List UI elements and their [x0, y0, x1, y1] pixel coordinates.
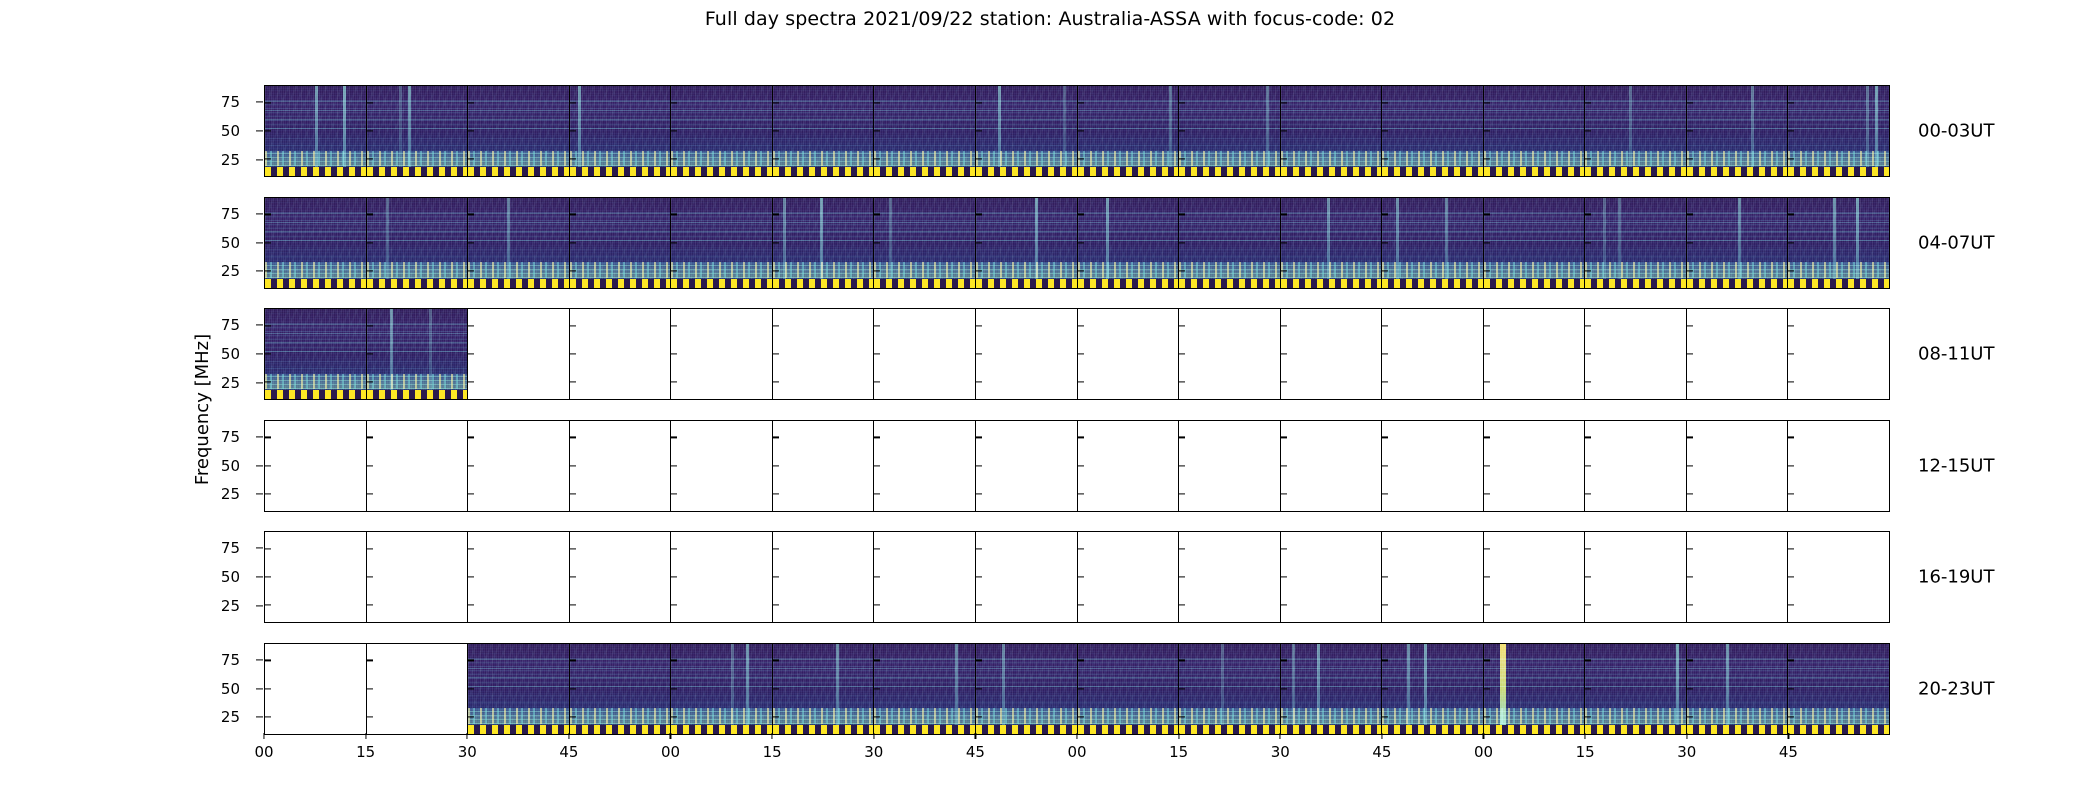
- y-tick-mark: [1382, 660, 1388, 661]
- spectrogram-layer-streaks: [468, 656, 569, 687]
- y-tick-mark: [468, 688, 474, 689]
- x-tick-label: 15: [1169, 743, 1188, 761]
- spectrogram-panel[interactable]: [1585, 309, 1687, 399]
- y-tick-mark: [1585, 242, 1591, 243]
- y-tick-mark: [1585, 493, 1591, 494]
- bottom-marker-strip: [1788, 167, 1889, 176]
- panel-strip: [265, 86, 1889, 176]
- x-tick-label: 00: [254, 743, 273, 761]
- spectrogram-panel[interactable]: [773, 532, 875, 622]
- y-tick-mark: [1382, 576, 1388, 577]
- spectrogram-panel[interactable]: [265, 421, 367, 511]
- y-tick-mark: [1484, 270, 1490, 271]
- spectrogram-panel[interactable]: [671, 644, 773, 734]
- spectrogram-layer-band: [265, 374, 366, 389]
- y-tick-mark: [1585, 353, 1591, 354]
- spectrogram-layer-streaks: [671, 210, 772, 241]
- rfi-burst: [1106, 198, 1109, 279]
- spectrogram-panel[interactable]: [1788, 532, 1889, 622]
- y-tick-mark: [1484, 382, 1490, 383]
- spectrogram-panel[interactable]: [468, 198, 570, 288]
- spectrogram-panel[interactable]: [1687, 309, 1789, 399]
- y-tick-mark: [1281, 548, 1287, 549]
- spectrogram-layer-streaks: [265, 322, 366, 353]
- spectrogram-panel[interactable]: [468, 644, 570, 734]
- spectrogram-panel[interactable]: [976, 86, 1078, 176]
- spectrogram-panel[interactable]: [1078, 198, 1180, 288]
- spectrogram-panel[interactable]: [1382, 198, 1484, 288]
- x-axis: 00153045001530450015304500153045: [264, 733, 1890, 773]
- spectrogram-panel[interactable]: [773, 421, 875, 511]
- y-tick-label: 75: [0, 651, 240, 669]
- spectrogram-panel[interactable]: [1687, 198, 1789, 288]
- spectrogram-panel[interactable]: [1281, 421, 1383, 511]
- x-tick-label: 45: [966, 743, 985, 761]
- y-tick-mark: [1788, 605, 1794, 606]
- spectrogram-panel[interactable]: [976, 532, 1078, 622]
- y-tick-mark: [1788, 493, 1794, 494]
- spectrogram-panel[interactable]: [570, 309, 672, 399]
- rfi-burst: [1875, 86, 1878, 167]
- spectrogram-panel[interactable]: [773, 309, 875, 399]
- spectrogram-panel[interactable]: [468, 86, 570, 176]
- y-tick-label: 50: [0, 345, 240, 363]
- rfi-burst: [1266, 86, 1269, 167]
- spectrogram-panel[interactable]: [367, 532, 469, 622]
- spectrogram-panel[interactable]: [1078, 86, 1180, 176]
- y-tick-mark: [367, 605, 373, 606]
- y-tick-mark: [468, 716, 474, 717]
- spectrogram-panel[interactable]: [1585, 532, 1687, 622]
- spectrogram-layer-streaks: [570, 210, 671, 241]
- spectrogram-row-12-15ut: [264, 420, 1890, 512]
- spectrogram-image: [671, 644, 772, 734]
- spectrogram-panel[interactable]: [1585, 644, 1687, 734]
- y-tick-mark: [570, 270, 576, 271]
- y-tick-mark: [773, 493, 779, 494]
- spectrogram-panel[interactable]: [1687, 644, 1789, 734]
- y-tick-mark: [1687, 688, 1693, 689]
- y-tick-mark: [1382, 159, 1388, 160]
- spectrogram-layer-streaks: [1788, 210, 1889, 241]
- y-tick-mark-outer: [256, 465, 263, 466]
- y-tick-mark: [1078, 130, 1084, 131]
- spectrogram-panel[interactable]: [265, 644, 367, 734]
- spectrogram-panel[interactable]: [265, 198, 367, 288]
- spectrogram-panel[interactable]: [1484, 421, 1586, 511]
- spectrogram-panel[interactable]: [976, 309, 1078, 399]
- spectrogram-panel[interactable]: [367, 309, 469, 399]
- x-tick: 00: [1067, 733, 1086, 761]
- spectrogram-panel[interactable]: [1078, 309, 1180, 399]
- y-axis-label: Frequency [MHz]: [190, 85, 216, 733]
- rfi-burst: [836, 644, 839, 725]
- spectrogram-panel[interactable]: [874, 198, 976, 288]
- spectrogram-layer-band: [1078, 262, 1179, 277]
- spectrogram-panel[interactable]: [1687, 86, 1789, 176]
- y-tick-mark: [1382, 382, 1388, 383]
- y-tick-mark: [671, 130, 677, 131]
- spectrogram-panel[interactable]: [1179, 86, 1281, 176]
- spectrogram-panel[interactable]: [1585, 198, 1687, 288]
- y-tick-mark: [773, 270, 779, 271]
- spectrogram-panel[interactable]: [976, 421, 1078, 511]
- spectrogram-panel[interactable]: [874, 309, 976, 399]
- spectrogram-panel[interactable]: [367, 86, 469, 176]
- y-tick-mark: [570, 382, 576, 383]
- spectrogram-layer-streaks: [1687, 99, 1788, 130]
- row-label-12-15ut: 12-15UT: [1918, 455, 1994, 476]
- spectrogram-layer-band: [1078, 708, 1179, 723]
- spectrogram-panel[interactable]: [367, 421, 469, 511]
- spectrogram-panel[interactable]: [874, 421, 976, 511]
- y-tick-mark: [1585, 660, 1591, 661]
- spectrogram-layer-band: [671, 262, 772, 277]
- y-tick-mark: [367, 130, 373, 131]
- y-tick-mark: [265, 437, 271, 438]
- bottom-marker-strip: [1484, 279, 1585, 288]
- y-tick-mark: [671, 688, 677, 689]
- spectrogram-image: [1687, 198, 1788, 288]
- row-frame: [264, 643, 1890, 735]
- spectrogram-image: [1382, 86, 1483, 176]
- y-tick-mark: [1687, 270, 1693, 271]
- y-tick-mark: [570, 576, 576, 577]
- spectrogram-layer-band: [1788, 708, 1889, 723]
- spectrogram-panel[interactable]: [1788, 644, 1889, 734]
- spectrogram-layer-streaks: [468, 99, 569, 130]
- spectrogram-panel[interactable]: [1788, 309, 1889, 399]
- bottom-marker-strip: [874, 279, 975, 288]
- spectrogram-panel[interactable]: [1382, 86, 1484, 176]
- y-tick-mark: [1382, 548, 1388, 549]
- x-tick-mark: [975, 733, 976, 739]
- spectrogram-panel[interactable]: [468, 532, 570, 622]
- row-label-00-03ut: 00-03UT: [1918, 121, 1994, 142]
- spectrogram-panel[interactable]: [265, 86, 367, 176]
- spectrogram-panel[interactable]: [1585, 421, 1687, 511]
- spectrogram-layer-streaks: [570, 656, 671, 687]
- y-tick-label: 75: [0, 539, 240, 557]
- spectrogram-panel[interactable]: [265, 532, 367, 622]
- spectrogram-panel[interactable]: [874, 86, 976, 176]
- y-tick-mark: [1078, 382, 1084, 383]
- spectrogram-panel[interactable]: [1382, 644, 1484, 734]
- spectrogram-panel[interactable]: [1484, 309, 1586, 399]
- spectrogram-image: [468, 198, 569, 288]
- spectrogram-panel[interactable]: [367, 644, 469, 734]
- spectrogram-image: [265, 309, 366, 399]
- y-tick-mark: [265, 159, 271, 160]
- y-tick-mark: [1382, 437, 1388, 438]
- spectrogram-panel[interactable]: [1585, 86, 1687, 176]
- spectrogram-panel[interactable]: [570, 86, 672, 176]
- spectrogram-panel[interactable]: [1078, 644, 1180, 734]
- spectrogram-panel[interactable]: [976, 198, 1078, 288]
- spectrogram-panel[interactable]: [1382, 532, 1484, 622]
- spectrogram-image: [1484, 86, 1585, 176]
- y-tick-mark: [367, 159, 373, 160]
- y-tick-mark: [1687, 382, 1693, 383]
- spectrogram-layer-band: [671, 151, 772, 166]
- y-tick-mark: [1585, 325, 1591, 326]
- rfi-burst: [998, 86, 1001, 167]
- spectrogram-panel[interactable]: [1179, 198, 1281, 288]
- y-tick-mark: [367, 214, 373, 215]
- y-tick-mark: [367, 716, 373, 717]
- spectrogram-panel[interactable]: [874, 532, 976, 622]
- spectrogram-image: [1078, 644, 1179, 734]
- y-tick-mark: [468, 242, 474, 243]
- spectrogram-panel[interactable]: [976, 644, 1078, 734]
- spectrogram-panel[interactable]: [1788, 198, 1889, 288]
- y-tick-mark: [773, 576, 779, 577]
- spectrogram-row-00-03ut: [264, 85, 1890, 177]
- x-tick-label: 45: [559, 743, 578, 761]
- rfi-burst: [1292, 644, 1295, 725]
- y-tick-mark: [671, 493, 677, 494]
- spectrogram-panel[interactable]: [468, 309, 570, 399]
- spectrogram-panel[interactable]: [874, 644, 976, 734]
- y-tick-mark: [1788, 214, 1794, 215]
- y-tick-mark: [1179, 493, 1185, 494]
- bottom-marker-strip: [570, 167, 671, 176]
- y-tick-mark: [874, 102, 880, 103]
- y-tick-mark: [773, 688, 779, 689]
- y-tick-mark: [1382, 130, 1388, 131]
- spectrogram-panel[interactable]: [1179, 309, 1281, 399]
- spectrogram-layer-band: [874, 151, 975, 166]
- spectrogram-layer-streaks: [773, 656, 874, 687]
- x-tick-label: 15: [356, 743, 375, 761]
- y-tick-mark: [367, 353, 373, 354]
- rfi-burst: [429, 309, 432, 390]
- spectrogram-row-20-23ut: [264, 643, 1890, 735]
- spectrogram-panel[interactable]: [1687, 421, 1789, 511]
- spectrogram-panel[interactable]: [570, 421, 672, 511]
- y-tick-mark: [1281, 716, 1287, 717]
- y-tick-mark: [874, 270, 880, 271]
- spectrogram-layer-streaks: [1687, 656, 1788, 687]
- bottom-marker-strip: [1687, 167, 1788, 176]
- spectrogram-panel[interactable]: [671, 86, 773, 176]
- rfi-burst: [1424, 644, 1427, 725]
- spectrogram-panel[interactable]: [1281, 309, 1383, 399]
- panel-strip: [265, 198, 1889, 288]
- x-tick-container: 00153045001530450015304500153045: [264, 733, 1890, 773]
- rfi-burst: [1603, 198, 1606, 279]
- spectrogram-layer-band: [671, 708, 772, 723]
- spectrogram-image: [671, 198, 772, 288]
- y-tick-mark-outer: [256, 688, 263, 689]
- rfi-burst: [1866, 86, 1869, 167]
- y-tick-mark: [671, 102, 677, 103]
- y-tick-mark: [1078, 576, 1084, 577]
- spectrogram-layer-streaks: [468, 210, 569, 241]
- spectrogram-layer-streaks: [1078, 210, 1179, 241]
- y-tick-mark: [773, 353, 779, 354]
- y-tick-mark: [1585, 102, 1591, 103]
- x-tick-mark: [1585, 733, 1586, 739]
- y-tick-mark: [1078, 688, 1084, 689]
- spectrogram-layer-band: [976, 262, 1077, 277]
- y-tick-mark: [1687, 242, 1693, 243]
- spectrogram-panel[interactable]: [671, 421, 773, 511]
- spectrogram-panel[interactable]: [1382, 309, 1484, 399]
- y-tick-mark: [570, 437, 576, 438]
- spectrogram-layer-streaks: [773, 210, 874, 241]
- y-tick-mark: [773, 437, 779, 438]
- y-tick-mark: [1484, 716, 1490, 717]
- spectrogram-panel[interactable]: [570, 198, 672, 288]
- row-frame: [264, 197, 1890, 289]
- y-tick-mark: [570, 605, 576, 606]
- y-tick-mark: [671, 716, 677, 717]
- spectrogram-panel[interactable]: [1382, 421, 1484, 511]
- y-tick-mark: [976, 102, 982, 103]
- spectrogram-panel[interactable]: [1281, 532, 1383, 622]
- spectrogram-panel[interactable]: [1484, 86, 1586, 176]
- y-tick-mark: [1281, 214, 1287, 215]
- spectrogram-panel[interactable]: [671, 309, 773, 399]
- y-tick-mark: [367, 437, 373, 438]
- y-tick-mark: [874, 353, 880, 354]
- spectrogram-image: [874, 86, 975, 176]
- y-tick-mark: [1788, 130, 1794, 131]
- spectrogram-layer-band: [367, 262, 468, 277]
- spectrogram-panel[interactable]: [1078, 532, 1180, 622]
- y-tick-mark: [1687, 102, 1693, 103]
- spectrogram-panel[interactable]: [1484, 532, 1586, 622]
- y-tick-mark: [1281, 242, 1287, 243]
- spectrogram-panel[interactable]: [468, 421, 570, 511]
- y-tick-mark: [1179, 353, 1185, 354]
- bottom-marker-strip: [1281, 167, 1382, 176]
- y-tick-mark: [874, 465, 880, 466]
- y-tick-mark: [874, 214, 880, 215]
- y-tick-mark: [1484, 242, 1490, 243]
- y-tick-mark: [1382, 242, 1388, 243]
- y-tick-mark: [671, 548, 677, 549]
- y-tick-mark: [1078, 548, 1084, 549]
- spectrogram-panel[interactable]: [570, 532, 672, 622]
- y-tick-mark: [1179, 130, 1185, 131]
- y-tick-mark: [367, 465, 373, 466]
- spectrogram-panel[interactable]: [1078, 421, 1180, 511]
- y-tick-mark: [874, 382, 880, 383]
- bottom-marker-strip: [1484, 167, 1585, 176]
- y-tick-mark: [671, 576, 677, 577]
- spectrogram-layer-band: [367, 374, 468, 389]
- spectrogram-panel[interactable]: [773, 86, 875, 176]
- y-tick-mark: [976, 437, 982, 438]
- y-tick-mark: [1687, 716, 1693, 717]
- x-tick-mark: [467, 733, 468, 739]
- spectrogram-image: [874, 644, 975, 734]
- spectrogram-image: [265, 198, 366, 288]
- y-tick-mark: [1179, 242, 1185, 243]
- spectrogram-panel[interactable]: [1179, 644, 1281, 734]
- y-tick-mark: [1179, 465, 1185, 466]
- row-frame: [264, 85, 1890, 177]
- spectrogram-panel[interactable]: [1281, 86, 1383, 176]
- rfi-burst: [1751, 86, 1754, 167]
- y-tick-mark: [671, 159, 677, 160]
- y-tick-mark: [570, 102, 576, 103]
- spectrogram-layer-streaks: [773, 99, 874, 130]
- y-tick-mark: [265, 270, 271, 271]
- spectrogram-layer-streaks: [367, 210, 468, 241]
- spectrogram-layer-streaks: [1585, 99, 1686, 130]
- spectrogram-image: [1585, 644, 1686, 734]
- spectrogram-panel[interactable]: [1484, 644, 1586, 734]
- y-tick-mark: [773, 605, 779, 606]
- spectrogram-image: [570, 644, 671, 734]
- y-tick-mark: [265, 493, 271, 494]
- spectrogram-panel[interactable]: [1484, 198, 1586, 288]
- y-tick-mark: [976, 325, 982, 326]
- y-tick-mark: [1484, 576, 1490, 577]
- spectrogram-panel[interactable]: [367, 198, 469, 288]
- rfi-burst: [889, 198, 892, 279]
- spectrogram-layer-streaks: [1281, 656, 1382, 687]
- y-tick-mark: [1382, 325, 1388, 326]
- spectrogram-panel[interactable]: [1281, 198, 1383, 288]
- y-tick-mark: [468, 493, 474, 494]
- spectrogram-panel[interactable]: [1281, 644, 1383, 734]
- y-tick-label: 50: [0, 122, 240, 140]
- spectrogram-panel[interactable]: [265, 309, 367, 399]
- y-tick-mark: [773, 130, 779, 131]
- spectrogram-layer-streaks: [671, 99, 772, 130]
- spectrogram-panel[interactable]: [671, 532, 773, 622]
- spectrogram-image: [1585, 86, 1686, 176]
- x-tick: 30: [1677, 733, 1696, 761]
- spectrogram-layer-streaks: [1382, 99, 1483, 130]
- spectrogram-panel[interactable]: [1179, 421, 1281, 511]
- y-tick-mark: [1179, 576, 1185, 577]
- x-tick-label: 00: [1067, 743, 1086, 761]
- x-tick-label: 15: [1576, 743, 1595, 761]
- spectrogram-panel[interactable]: [1687, 532, 1789, 622]
- spectrogram-panel[interactable]: [570, 644, 672, 734]
- y-tick-mark: [1382, 214, 1388, 215]
- spectrogram-panel[interactable]: [773, 198, 875, 288]
- spectrogram-panel[interactable]: [671, 198, 773, 288]
- x-tick: 00: [1474, 733, 1493, 761]
- spectrogram-image: [570, 198, 671, 288]
- spectrogram-panel[interactable]: [1179, 532, 1281, 622]
- rfi-burst: [1221, 644, 1224, 725]
- bottom-marker-strip: [1382, 167, 1483, 176]
- y-tick-mark-outer: [256, 353, 263, 354]
- y-tick-mark: [976, 130, 982, 131]
- spectrogram-panel[interactable]: [1788, 86, 1889, 176]
- x-tick-mark: [1686, 733, 1687, 739]
- y-tick-mark: [367, 270, 373, 271]
- y-tick-mark: [1179, 102, 1185, 103]
- y-tick-mark: [1281, 353, 1287, 354]
- rfi-burst: [1856, 198, 1859, 279]
- spectrogram-panel[interactable]: [1788, 421, 1889, 511]
- spectrogram-image: [367, 198, 468, 288]
- y-tick-mark: [1585, 548, 1591, 549]
- spectrogram-image: [1484, 198, 1585, 288]
- y-tick-mark: [773, 382, 779, 383]
- y-tick-mark: [874, 242, 880, 243]
- y-tick-mark: [570, 716, 576, 717]
- spectrogram-panel[interactable]: [773, 644, 875, 734]
